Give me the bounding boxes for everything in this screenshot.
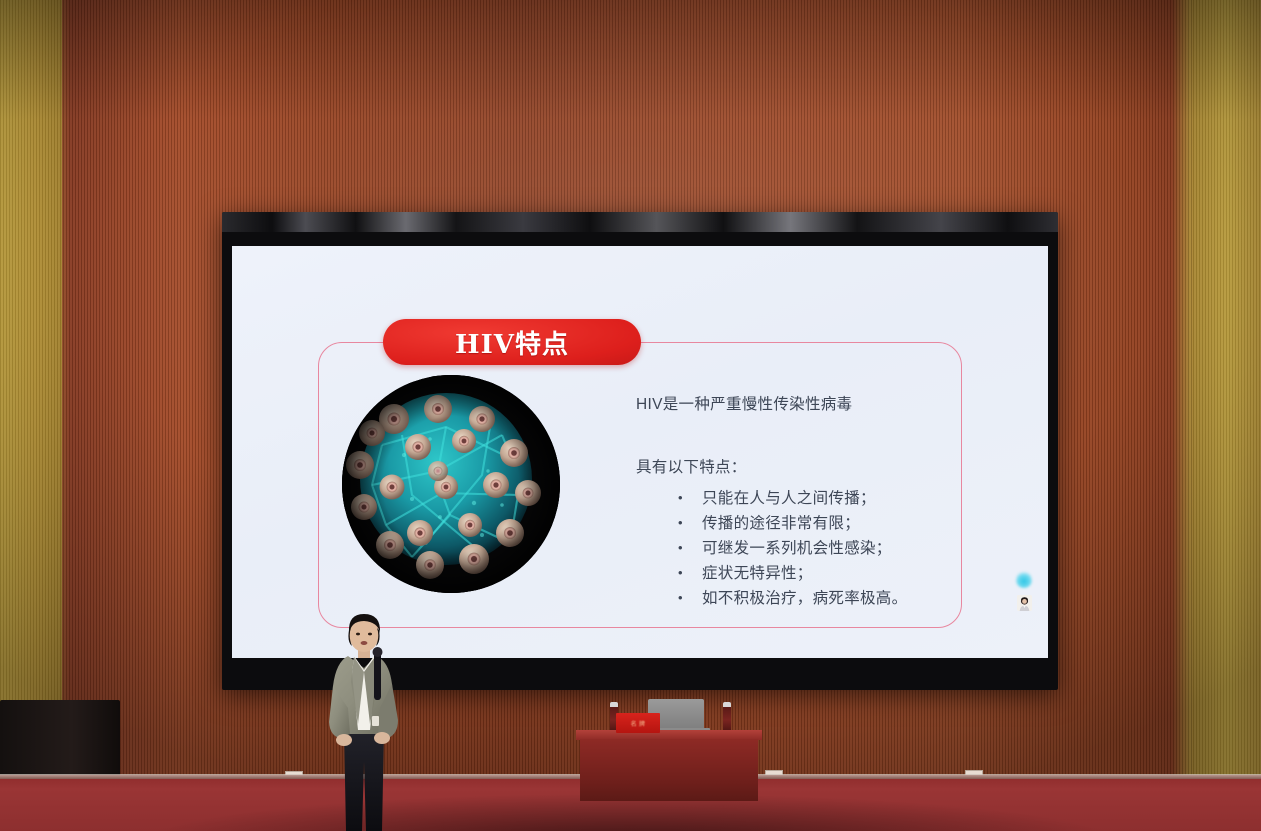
hiv-virus-image (342, 375, 560, 593)
list-item: 只能在人与人之间传播； (678, 486, 966, 511)
lecture-hall-photo: HIV特点 (0, 0, 1261, 831)
water-bottle (723, 702, 731, 732)
presenter-table-skirt (580, 739, 758, 801)
slide-lead-in: 具有以下特点： (636, 455, 966, 477)
list-item: 可继发一系列机会性感染； (678, 536, 966, 561)
list-item: 如不积极治疗，病死率极高。 (678, 586, 966, 611)
slide-body-text: HIV是一种严重慢性传染性病毒 具有以下特点： 只能在人与人之间传播； 传播的途… (636, 392, 966, 611)
list-item: 症状无特异性； (678, 561, 966, 586)
avatar (1017, 595, 1032, 611)
presenter (318, 612, 410, 831)
page-title: HIV特点 (455, 324, 569, 361)
slide-title-pill: HIV特点 (383, 319, 641, 365)
slide-intro-line: HIV是一种严重慢性传染性病毒 (636, 392, 966, 414)
slide-bullet-list: 只能在人与人之间传播； 传播的途径非常有限； 可继发一系列机会性感染； 症状无特… (636, 486, 966, 611)
list-item: 传播的途径非常有限； (678, 511, 966, 536)
presentation-slide: HIV特点 (232, 246, 1048, 658)
name-placard-text: 名 牌 (631, 719, 646, 728)
name-placard: 名 牌 (616, 713, 660, 733)
screen-bezel-glare (222, 212, 1058, 232)
water-drop-icon (1016, 570, 1032, 588)
